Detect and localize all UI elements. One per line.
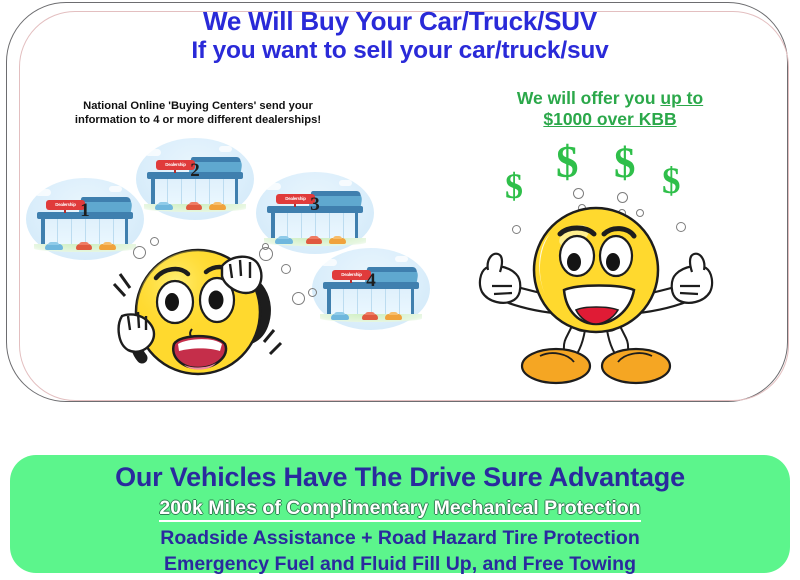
- dealership-number: 1: [26, 200, 144, 222]
- car-roof-shape: [189, 202, 198, 205]
- car-shape: [331, 314, 349, 320]
- car-shape: [329, 238, 346, 244]
- banner-line-2: 200k Miles of Complimentary Mechanical P…: [159, 497, 640, 522]
- drive-sure-advantage-banner: Our Vehicles Have The Drive Sure Advanta…: [10, 455, 790, 573]
- left-caption-line-2: information to 4 or more different deale…: [38, 113, 358, 127]
- cloud-shape: [321, 259, 337, 266]
- page-title: We Will Buy Your Car/Truck/SUV If you wa…: [0, 6, 800, 66]
- car-shape: [385, 314, 402, 320]
- building-pillar-left: [151, 179, 155, 206]
- dollar-sign-icon: $: [505, 168, 523, 204]
- cloud-shape: [145, 149, 161, 156]
- banner-line-1: Our Vehicles Have The Drive Sure Advanta…: [10, 461, 790, 495]
- car-shape: [76, 244, 93, 250]
- dollar-sign-icon: $: [556, 140, 579, 185]
- cloud-shape: [339, 180, 352, 186]
- banner-line-2-wrapper: 200k Miles of Complimentary Mechanical P…: [10, 496, 790, 521]
- right-offer-caption: We will offer you up to $1000 over KBB: [455, 88, 765, 131]
- building-pillar-right: [411, 289, 415, 316]
- dealership-number: 3: [256, 194, 374, 216]
- dealership-illustration-2: Dealership 2: [136, 138, 254, 220]
- car-shape: [209, 204, 226, 210]
- stressed-emoji-svg: [112, 232, 290, 390]
- dollar-sign-icon: $: [614, 142, 636, 185]
- left-caption: National Online 'Buying Centers' send yo…: [38, 99, 358, 127]
- headline-line-2: If you want to sell your car/truck/suv: [0, 37, 800, 66]
- thought-bubble: [292, 292, 305, 305]
- offer-line-1: We will offer you up to: [455, 88, 765, 109]
- car-roof-shape: [158, 202, 169, 205]
- car-roof-shape: [309, 236, 318, 239]
- building-pillar-right: [235, 179, 239, 206]
- car-roof-shape: [365, 312, 374, 315]
- car-roof-shape: [48, 242, 59, 245]
- building-pillar-left: [41, 219, 45, 246]
- car-shape: [186, 204, 203, 210]
- advertisement-graphic: We Will Buy Your Car/Truck/SUV If you wa…: [0, 0, 800, 580]
- stressed-emoji-illustration: [112, 232, 290, 390]
- car-roof-shape: [79, 242, 88, 245]
- left-caption-line-1: National Online 'Buying Centers' send yo…: [38, 99, 358, 113]
- banner-line-4: Emergency Fuel and Fluid Fill Up, and Fr…: [10, 552, 790, 578]
- offer-line-1-prefix: We will offer you: [517, 88, 661, 108]
- dealership-number: 4: [312, 270, 430, 292]
- car-shape: [45, 244, 63, 250]
- thought-bubble: [617, 192, 628, 203]
- car-roof-shape: [213, 202, 222, 205]
- car-roof-shape: [334, 312, 345, 315]
- cloud-shape: [265, 183, 281, 190]
- car-shape: [306, 238, 323, 244]
- offer-line-2: $1000 over KBB: [455, 109, 765, 130]
- cloud-shape: [35, 189, 51, 196]
- cloud-shape: [219, 146, 232, 152]
- car-roof-shape: [389, 312, 398, 315]
- offer-amount: $1000 over KBB: [543, 109, 676, 129]
- car-roof-shape: [103, 242, 112, 245]
- car-shape: [362, 314, 379, 320]
- building-pillar-left: [327, 289, 331, 316]
- thought-bubble: [573, 188, 584, 199]
- cloud-shape: [395, 256, 408, 262]
- banner-line-3: Roadside Assistance + Road Hazard Tire P…: [10, 526, 790, 552]
- happy-emoji-svg: [478, 206, 714, 392]
- car-shape: [155, 204, 173, 210]
- cloud-shape: [109, 186, 122, 192]
- thought-bubble: [308, 288, 317, 297]
- dealership-illustration-4: Dealership 4: [312, 248, 430, 330]
- dollar-sign-icon: $: [662, 163, 681, 200]
- happy-emoji-illustration: [478, 206, 714, 392]
- dealership-number: 2: [136, 160, 254, 182]
- car-roof-shape: [333, 236, 342, 239]
- offer-line-1-emphasis: up to: [660, 88, 703, 108]
- headline-line-1: We Will Buy Your Car/Truck/SUV: [0, 6, 800, 37]
- building-pillar-right: [355, 213, 359, 240]
